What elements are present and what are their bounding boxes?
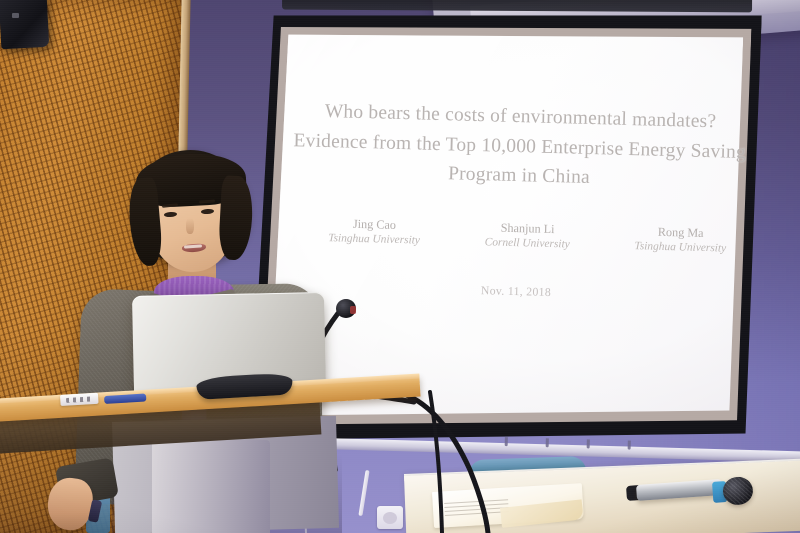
wall-hook <box>587 439 590 448</box>
podium-column <box>152 440 270 533</box>
hair-side-right <box>218 175 254 261</box>
author-affiliation: Tsinghua University <box>634 239 726 256</box>
wall-hook <box>546 438 549 447</box>
presentation-photo-scene: Who bears the costs of environmental man… <box>0 0 800 533</box>
gooseneck-microphone-ring <box>350 306 356 314</box>
paper-line <box>445 511 509 516</box>
author-affiliation: Cornell University <box>484 235 569 251</box>
wall-hook <box>628 441 631 450</box>
author-entry: Rong Ma Tsinghua University <box>634 224 726 256</box>
wall-speaker-badge <box>12 13 19 18</box>
wall-speaker-icon <box>0 0 49 49</box>
author-entry: Shanjun Li Cornell University <box>484 220 570 252</box>
wall-hook <box>505 437 508 446</box>
nose <box>186 218 194 234</box>
power-outlet-socket <box>383 512 397 524</box>
screen-roller-housing <box>282 0 752 12</box>
